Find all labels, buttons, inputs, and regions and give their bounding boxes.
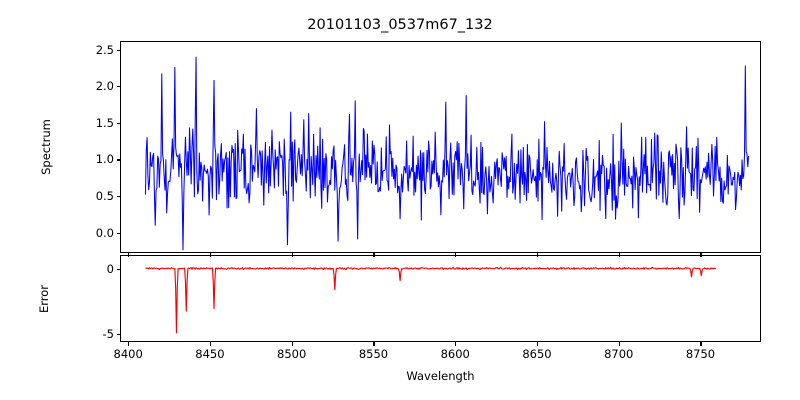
error-y-tick-label: -5 <box>74 327 114 341</box>
x-tick <box>619 342 620 346</box>
spectrum-y-tick-label: 1.5 <box>74 116 114 130</box>
spectrum-plot-area <box>120 41 761 253</box>
x-axis-label: Wavelength <box>120 369 761 383</box>
x-tick <box>455 342 456 346</box>
spectrum-y-tick-label: 0.0 <box>74 226 114 240</box>
x-tick <box>537 342 538 346</box>
spectrum-y-tick <box>117 86 121 87</box>
spectrum-series-line <box>121 42 760 252</box>
spectrum-y-tick <box>117 123 121 124</box>
x-tick-label: 8500 <box>277 347 306 361</box>
x-tick-label: 8750 <box>686 347 715 361</box>
x-tick <box>292 342 293 346</box>
spectrum-x-tick <box>128 253 129 257</box>
x-tick-label: 8650 <box>522 347 551 361</box>
error-plot-area <box>120 255 761 342</box>
spectrum-x-tick <box>700 253 701 257</box>
x-tick-label: 8400 <box>114 347 143 361</box>
spectrum-x-tick <box>373 253 374 257</box>
spectrum-x-tick <box>537 253 538 257</box>
spectrum-y-axis-label: Spectrum <box>39 87 53 207</box>
error-y-tick <box>117 269 121 270</box>
spectrum-y-tick-label: 2.0 <box>74 79 114 93</box>
x-tick <box>373 342 374 346</box>
error-y-axis-label: Error <box>37 249 51 349</box>
x-tick-label: 8700 <box>604 347 633 361</box>
chart-title: 20101103_0537m67_132 <box>0 17 800 33</box>
spectrum-y-tick-label: 0.5 <box>74 189 114 203</box>
x-tick <box>210 342 211 346</box>
error-series-line <box>121 256 760 341</box>
x-tick-label: 8600 <box>441 347 470 361</box>
spectrum-y-tick <box>117 233 121 234</box>
spectrum-y-tick-label: 1.0 <box>74 152 114 166</box>
spectrum-x-tick <box>619 253 620 257</box>
x-tick-label: 8550 <box>359 347 388 361</box>
spectrum-x-tick <box>292 253 293 257</box>
x-tick <box>700 342 701 346</box>
x-tick-label: 8450 <box>195 347 224 361</box>
x-tick <box>128 342 129 346</box>
spectrum-x-tick <box>455 253 456 257</box>
spectrum-y-tick <box>117 50 121 51</box>
spectrum-x-tick <box>210 253 211 257</box>
spectrum-y-tick-label: 2.5 <box>74 43 114 57</box>
spectrum-y-tick <box>117 159 121 160</box>
error-y-tick <box>117 334 121 335</box>
spectrum-y-tick <box>117 196 121 197</box>
figure-canvas: 20101103_0537m67_132 0.00.51.01.52.02.50… <box>0 0 800 400</box>
error-y-tick-label: 0 <box>74 262 114 276</box>
